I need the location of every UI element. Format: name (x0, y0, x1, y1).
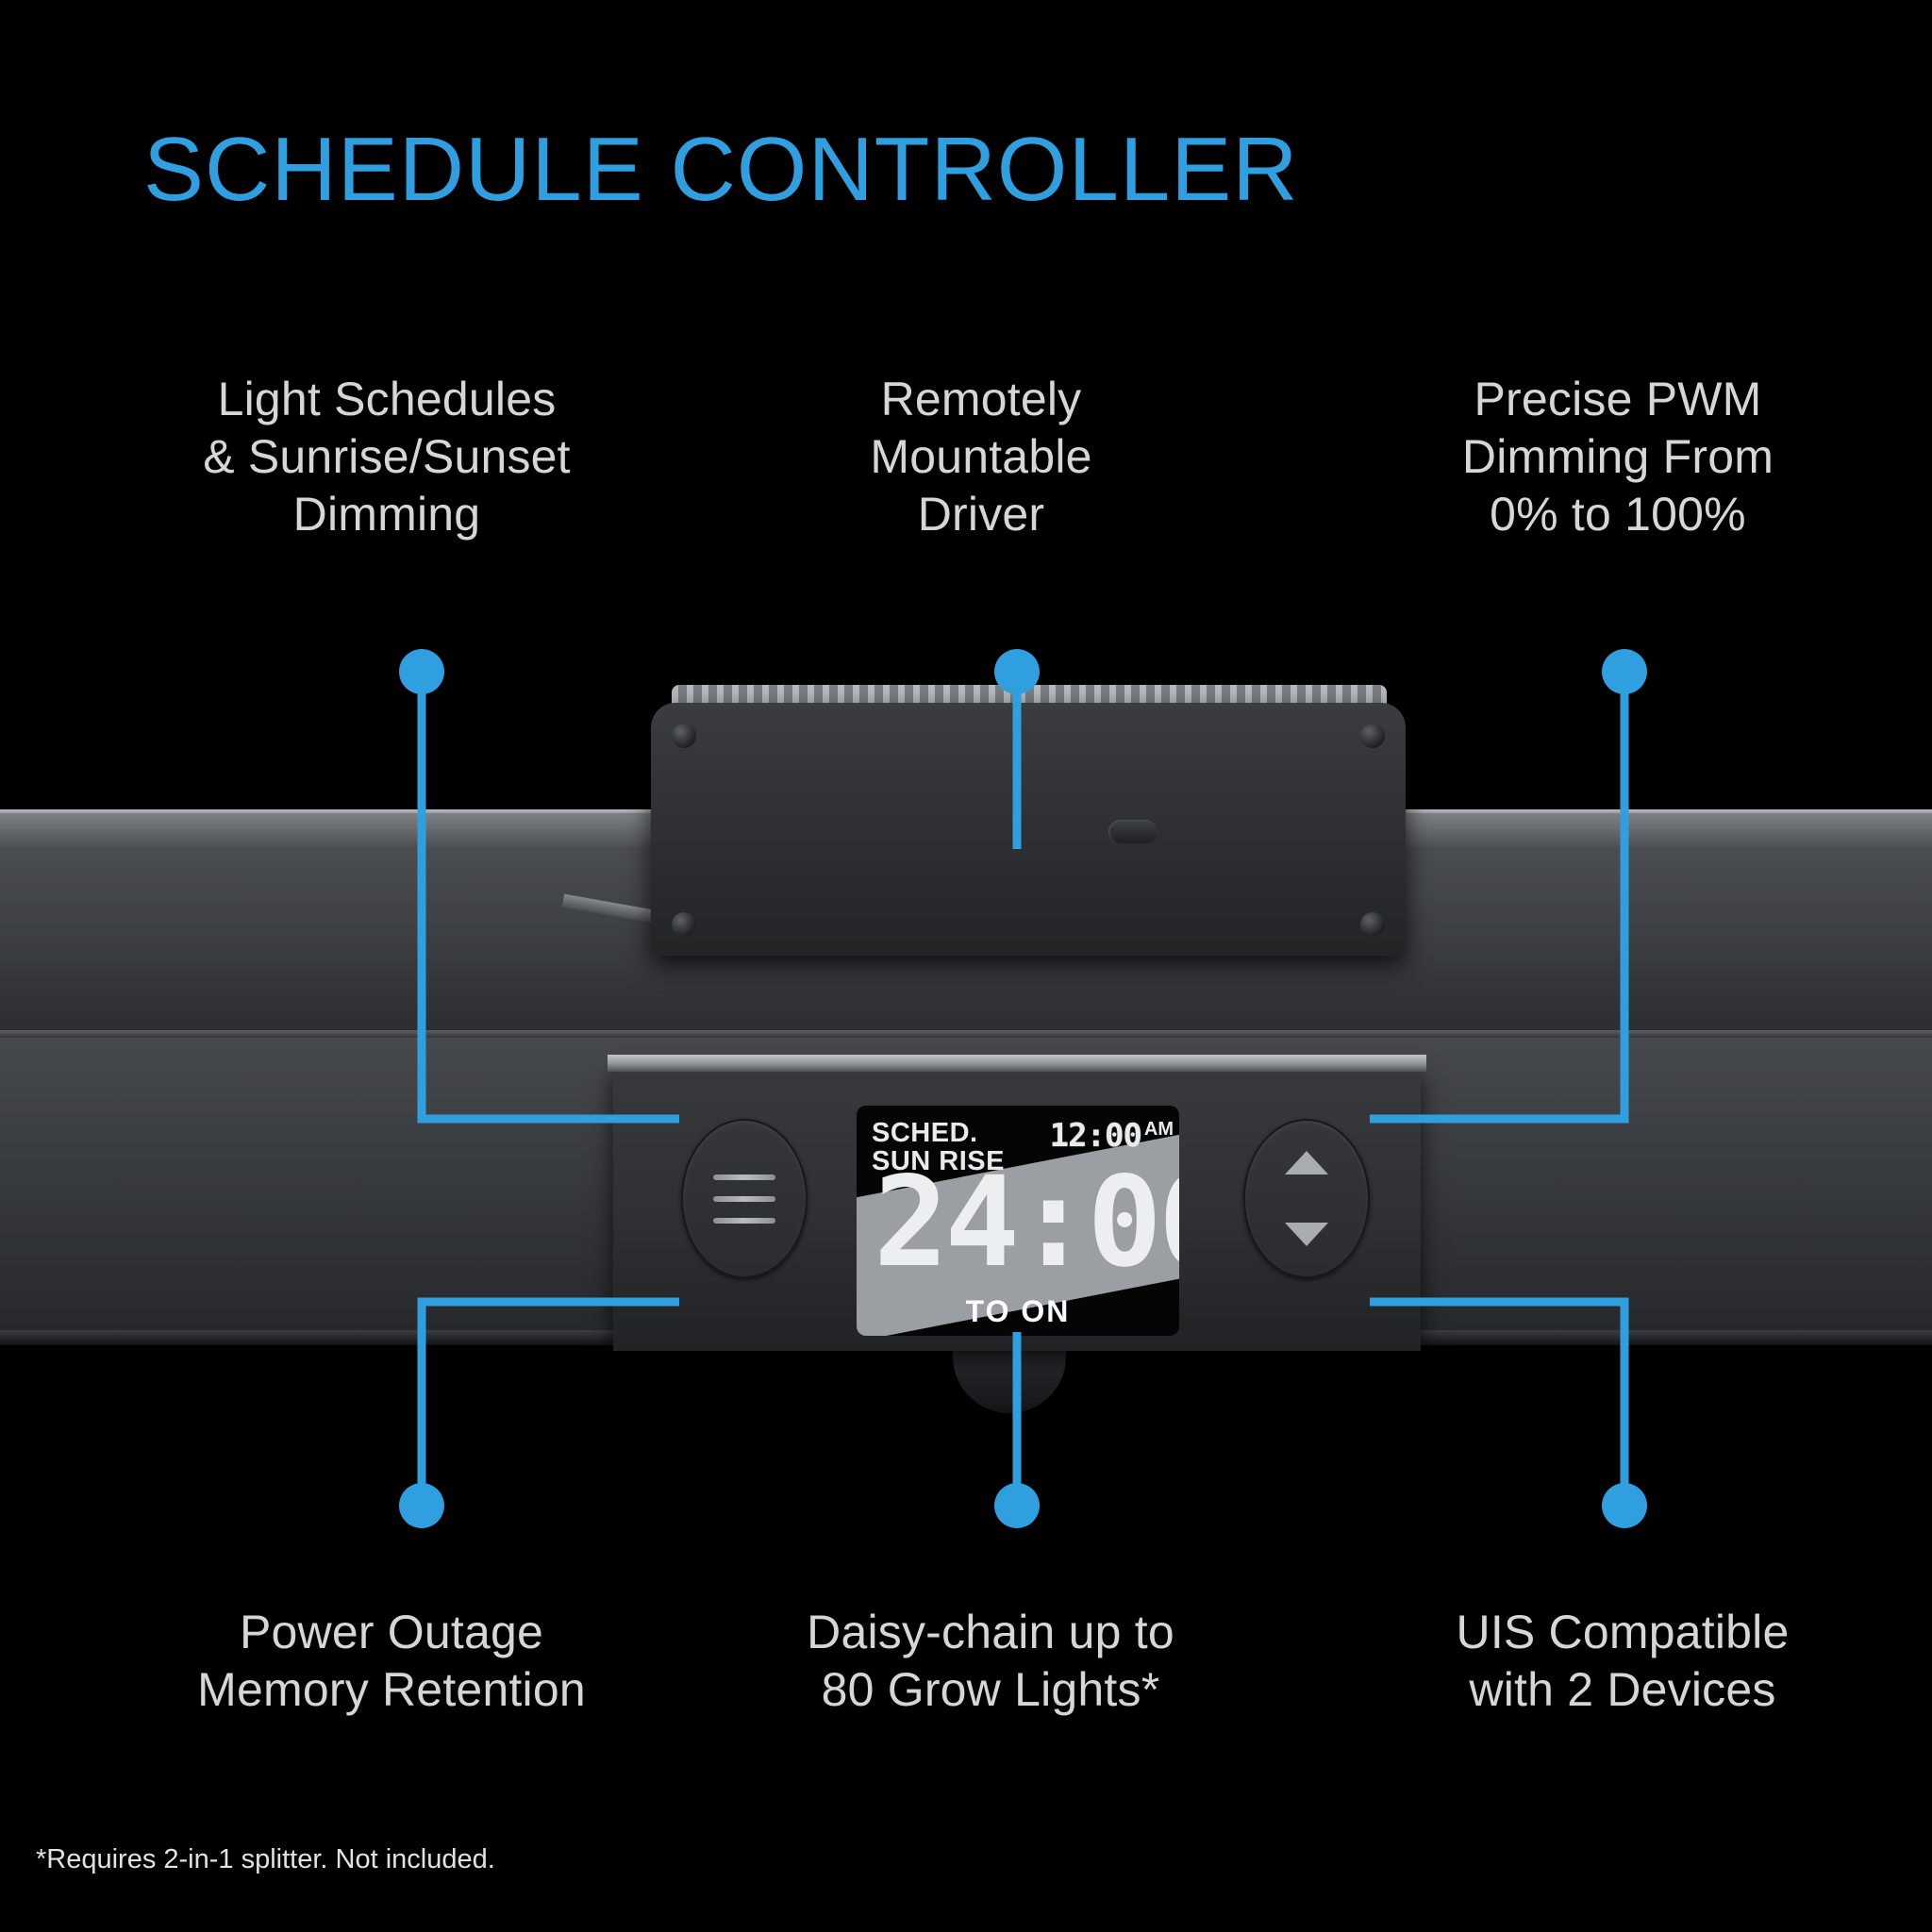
infographic-canvas: SCHED. SUN RISE 12:00 AM 24:00 TO ON AC … (0, 0, 1932, 1932)
chevron-up-icon[interactable] (1285, 1151, 1328, 1174)
lcd-mode-line1: SCHED. (872, 1119, 1005, 1147)
callout-line: Memory Retention (85, 1661, 698, 1719)
menu-icon-line (713, 1218, 775, 1224)
lcd-meridiem: AM (1144, 1119, 1174, 1141)
footnote: *Requires 2-in-1 splitter. Not included. (36, 1844, 495, 1875)
callout-line: Precise PWM (1340, 371, 1896, 428)
callout-line: Power Outage (85, 1604, 698, 1661)
callout-line: 80 Grow Lights* (717, 1661, 1264, 1719)
control-panel-bevel (608, 1055, 1426, 1072)
menu-icon-line (713, 1196, 775, 1202)
driver-screw (672, 912, 696, 937)
callout-line: 0% to 100% (1340, 486, 1896, 543)
callout-line: with 2 Devices (1340, 1661, 1906, 1719)
page-title: SCHEDULE CONTROLLER (143, 125, 1558, 215)
callout-line: Driver (717, 486, 1245, 543)
lcd-timer-value: 24:00 (874, 1160, 1179, 1285)
up-down-button[interactable] (1243, 1119, 1370, 1278)
callout-line: Dimming From (1340, 428, 1896, 486)
callout-power-outage-memory: Power Outage Memory Retention (85, 1604, 698, 1719)
chevron-down-icon[interactable] (1285, 1223, 1328, 1246)
lcd-status-text: TO ON (857, 1294, 1179, 1329)
driver-box (651, 703, 1406, 956)
callout-line: Daisy-chain up to (717, 1604, 1264, 1661)
driver-screw (672, 724, 696, 748)
menu-button[interactable] (681, 1119, 808, 1278)
callout-precise-pwm-dimming: Precise PWM Dimming From 0% to 100% (1340, 371, 1896, 543)
lcd-display: SCHED. SUN RISE 12:00 AM 24:00 TO ON AC … (857, 1106, 1179, 1336)
callout-line: & Sunrise/Sunset (71, 428, 703, 486)
callout-line: Dimming (71, 486, 703, 543)
callout-line: Light Schedules (71, 371, 703, 428)
callout-uis-compatible: UIS Compatible with 2 Devices (1340, 1604, 1906, 1719)
callout-light-schedules: Light Schedules & Sunrise/Sunset Dimming (71, 371, 703, 543)
driver-screw (1360, 912, 1385, 937)
panel-cable-boot (953, 1351, 1066, 1413)
callout-daisy-chain: Daisy-chain up to 80 Grow Lights* (717, 1604, 1264, 1719)
lcd-clock: 12:00 (1050, 1117, 1141, 1155)
driver-cable-gland (1108, 820, 1158, 844)
menu-icon-line (713, 1174, 775, 1180)
driver-screw (1360, 724, 1385, 748)
callout-remotely-mountable-driver: Remotely Mountable Driver (717, 371, 1245, 543)
callout-line: UIS Compatible (1340, 1604, 1906, 1661)
callout-line: Mountable (717, 428, 1245, 486)
callout-line: Remotely (717, 371, 1245, 428)
